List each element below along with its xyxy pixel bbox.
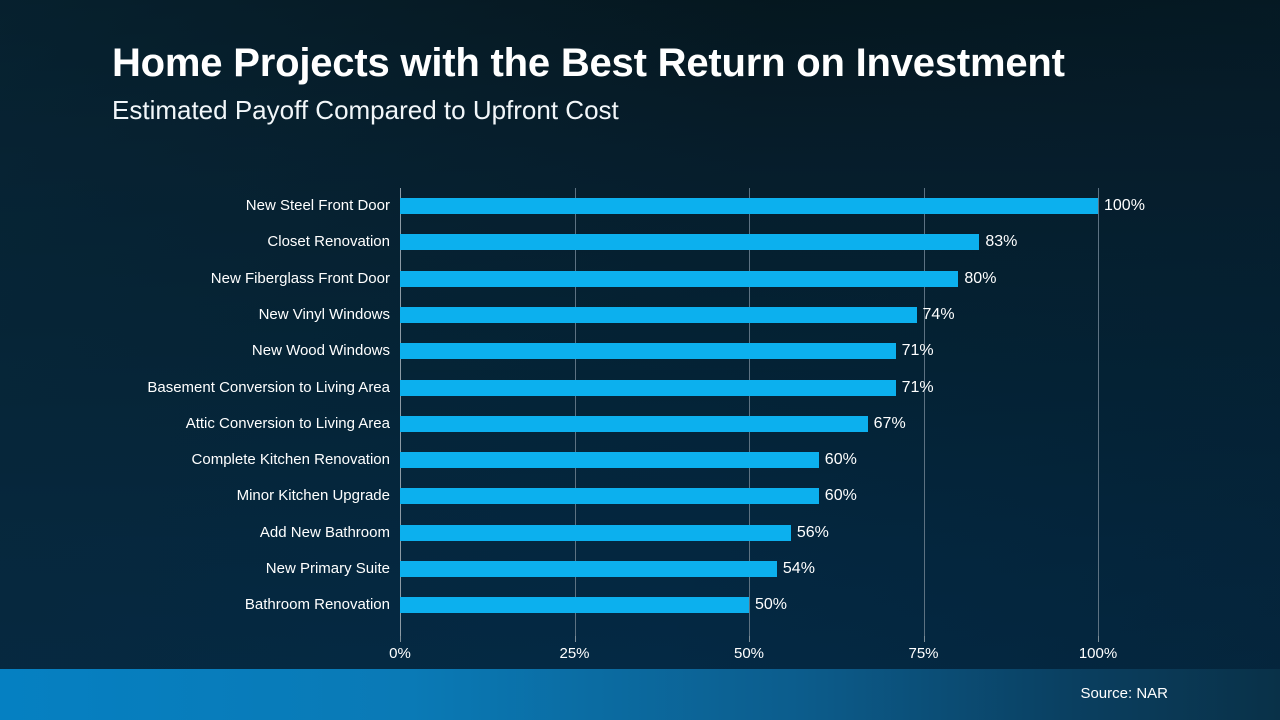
bar (400, 452, 819, 468)
x-tick-mark (1098, 636, 1099, 642)
bar (400, 488, 819, 504)
bar (400, 380, 896, 396)
bar (400, 198, 1098, 214)
bar-row: Basement Conversion to Living Area71% (400, 370, 1098, 406)
x-tick-label: 25% (559, 645, 589, 662)
category-label: Complete Kitchen Renovation (192, 450, 390, 469)
x-tick-label: 75% (908, 645, 938, 662)
x-tick-label: 0% (389, 645, 411, 662)
slide-canvas: Home Projects with the Best Return on In… (0, 0, 1280, 720)
x-tick-mark (924, 636, 925, 642)
category-label: Add New Bathroom (260, 523, 390, 542)
bar-value-label: 60% (825, 450, 857, 469)
x-tick-mark (749, 636, 750, 642)
category-label: New Primary Suite (266, 559, 390, 578)
bar-rows-group: New Steel Front Door100%Closet Renovatio… (400, 188, 1098, 636)
bar-value-label: 54% (783, 559, 815, 578)
bar (400, 343, 896, 359)
category-label: Minor Kitchen Upgrade (237, 486, 390, 505)
bar-row: Add New Bathroom56% (400, 515, 1098, 551)
bar (400, 271, 958, 287)
bar-row: Attic Conversion to Living Area67% (400, 406, 1098, 442)
page-title: Home Projects with the Best Return on In… (112, 42, 1192, 84)
category-label: Attic Conversion to Living Area (186, 414, 390, 433)
bar-row: Closet Renovation83% (400, 224, 1098, 260)
bar-row: New Fiberglass Front Door80% (400, 261, 1098, 297)
bar (400, 307, 917, 323)
bar-row: New Primary Suite54% (400, 551, 1098, 587)
bar-row: New Steel Front Door100% (400, 188, 1098, 224)
bar-value-label: 67% (874, 414, 906, 433)
bar-value-label: 83% (985, 232, 1017, 251)
bar-row: New Vinyl Windows74% (400, 297, 1098, 333)
bar-value-label: 74% (923, 305, 955, 324)
gridline-100 (1098, 188, 1099, 636)
bar-row: Minor Kitchen Upgrade60% (400, 478, 1098, 514)
bar (400, 561, 777, 577)
category-label: New Steel Front Door (246, 196, 390, 215)
x-axis: 0%25%50%75%100% (400, 636, 1098, 666)
footer-bar: Source: NAR (0, 669, 1280, 720)
bar-value-label: 80% (964, 269, 996, 288)
category-label: New Wood Windows (252, 341, 390, 360)
bar (400, 525, 791, 541)
source-label: Source: NAR (1080, 685, 1168, 702)
bar-row: Bathroom Renovation50% (400, 587, 1098, 623)
bar (400, 234, 979, 250)
bar-value-label: 71% (902, 378, 934, 397)
x-tick-mark (575, 636, 576, 642)
bar-row: Complete Kitchen Renovation60% (400, 442, 1098, 478)
chart-subtitle: Estimated Payoff Compared to Upfront Cos… (112, 97, 1192, 124)
x-tick-label: 50% (734, 645, 764, 662)
bar-value-label: 100% (1104, 196, 1145, 215)
bar-value-label: 60% (825, 486, 857, 505)
bar-value-label: 71% (902, 341, 934, 360)
bar (400, 416, 868, 432)
chart-header: Home Projects with the Best Return on In… (112, 42, 1192, 124)
category-label: Bathroom Renovation (245, 595, 390, 614)
bar-chart-plot-area: New Steel Front Door100%Closet Renovatio… (400, 188, 1098, 636)
category-label: Basement Conversion to Living Area (147, 378, 390, 397)
bar (400, 597, 749, 613)
x-tick-mark (400, 636, 401, 642)
bar-value-label: 50% (755, 595, 787, 614)
bar-value-label: 56% (797, 523, 829, 542)
x-tick-label: 100% (1079, 645, 1117, 662)
bar-row: New Wood Windows71% (400, 333, 1098, 369)
category-label: Closet Renovation (267, 232, 390, 251)
category-label: New Fiberglass Front Door (211, 269, 390, 288)
category-label: New Vinyl Windows (259, 305, 390, 324)
